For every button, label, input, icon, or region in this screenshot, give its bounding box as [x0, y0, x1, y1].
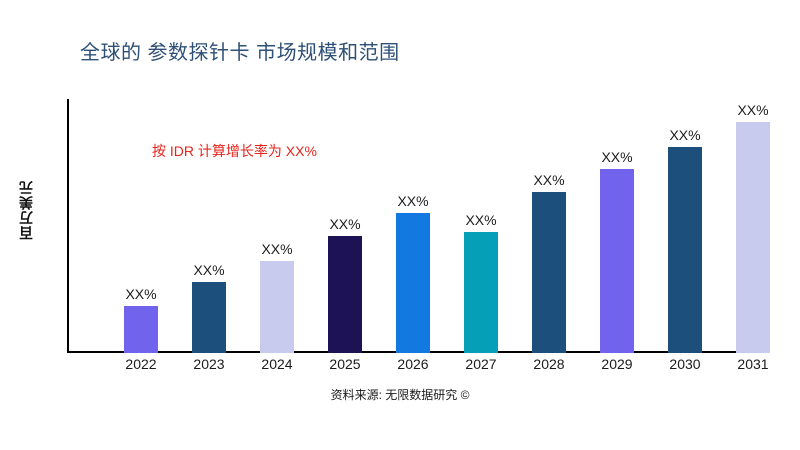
chart-title: 全球的 参数探针卡 市场规模和范围	[80, 36, 400, 65]
y-axis-label: 百万美元	[16, 180, 36, 240]
bar-value-label-2026: XX%	[397, 193, 428, 209]
y-axis-label-container: 百万美元	[14, 155, 38, 265]
bar-2023[interactable]	[192, 282, 226, 353]
bar-2029[interactable]	[600, 169, 634, 353]
bar-group: XX%	[515, 95, 583, 353]
bar-2028[interactable]	[532, 192, 566, 353]
bar-group: XX%	[311, 95, 379, 353]
x-tick-2027: 2027	[447, 356, 515, 372]
x-tick-2029: 2029	[583, 356, 651, 372]
bar-value-label-2027: XX%	[465, 212, 496, 228]
x-tick-2025: 2025	[311, 356, 379, 372]
bar-2027[interactable]	[464, 232, 498, 353]
x-tick-2026: 2026	[379, 356, 447, 372]
bar-value-label-2025: XX%	[329, 216, 360, 232]
bar-group: XX%	[583, 95, 651, 353]
bar-value-label-2022: XX%	[125, 286, 156, 302]
bar-group: XX%	[107, 95, 175, 353]
bar-2024[interactable]	[260, 261, 294, 353]
bar-group: XX%	[651, 95, 719, 353]
bar-2030[interactable]	[668, 147, 702, 353]
bar-2026[interactable]	[396, 213, 430, 353]
bar-2022[interactable]	[124, 306, 158, 353]
bar-2031[interactable]	[736, 122, 770, 353]
x-tick-2031: 2031	[719, 356, 787, 372]
bar-value-label-2031: XX%	[737, 102, 768, 118]
x-axis-tick-labels: 2022202320242025202620272028202920302031	[67, 356, 800, 380]
bar-value-label-2023: XX%	[193, 262, 224, 278]
bar-group: XX%	[243, 95, 311, 353]
bar-value-label-2028: XX%	[533, 172, 564, 188]
bar-value-label-2024: XX%	[261, 241, 292, 257]
source-note: 资料来源: 无限数据研究 ©	[0, 386, 800, 403]
bar-group: XX%	[719, 95, 787, 353]
bar-value-label-2030: XX%	[669, 127, 700, 143]
bar-2025[interactable]	[328, 236, 362, 353]
cagr-annotation: 按 IDR 计算增长率为 XX%	[152, 141, 317, 161]
bar-value-label-2029: XX%	[601, 149, 632, 165]
bar-group: XX%	[379, 95, 447, 353]
x-tick-2028: 2028	[515, 356, 583, 372]
x-tick-2024: 2024	[243, 356, 311, 372]
bar-chart: 全球的 参数探针卡 市场规模和范围 百万美元 XX%XX%XX%XX%XX%XX…	[0, 0, 800, 450]
x-tick-2030: 2030	[651, 356, 719, 372]
bar-group: XX%	[175, 95, 243, 353]
plot-area: XX%XX%XX%XX%XX%XX%XX%XX%XX%XX%	[67, 95, 800, 353]
bar-group: XX%	[447, 95, 515, 353]
x-tick-2022: 2022	[107, 356, 175, 372]
x-tick-2023: 2023	[175, 356, 243, 372]
